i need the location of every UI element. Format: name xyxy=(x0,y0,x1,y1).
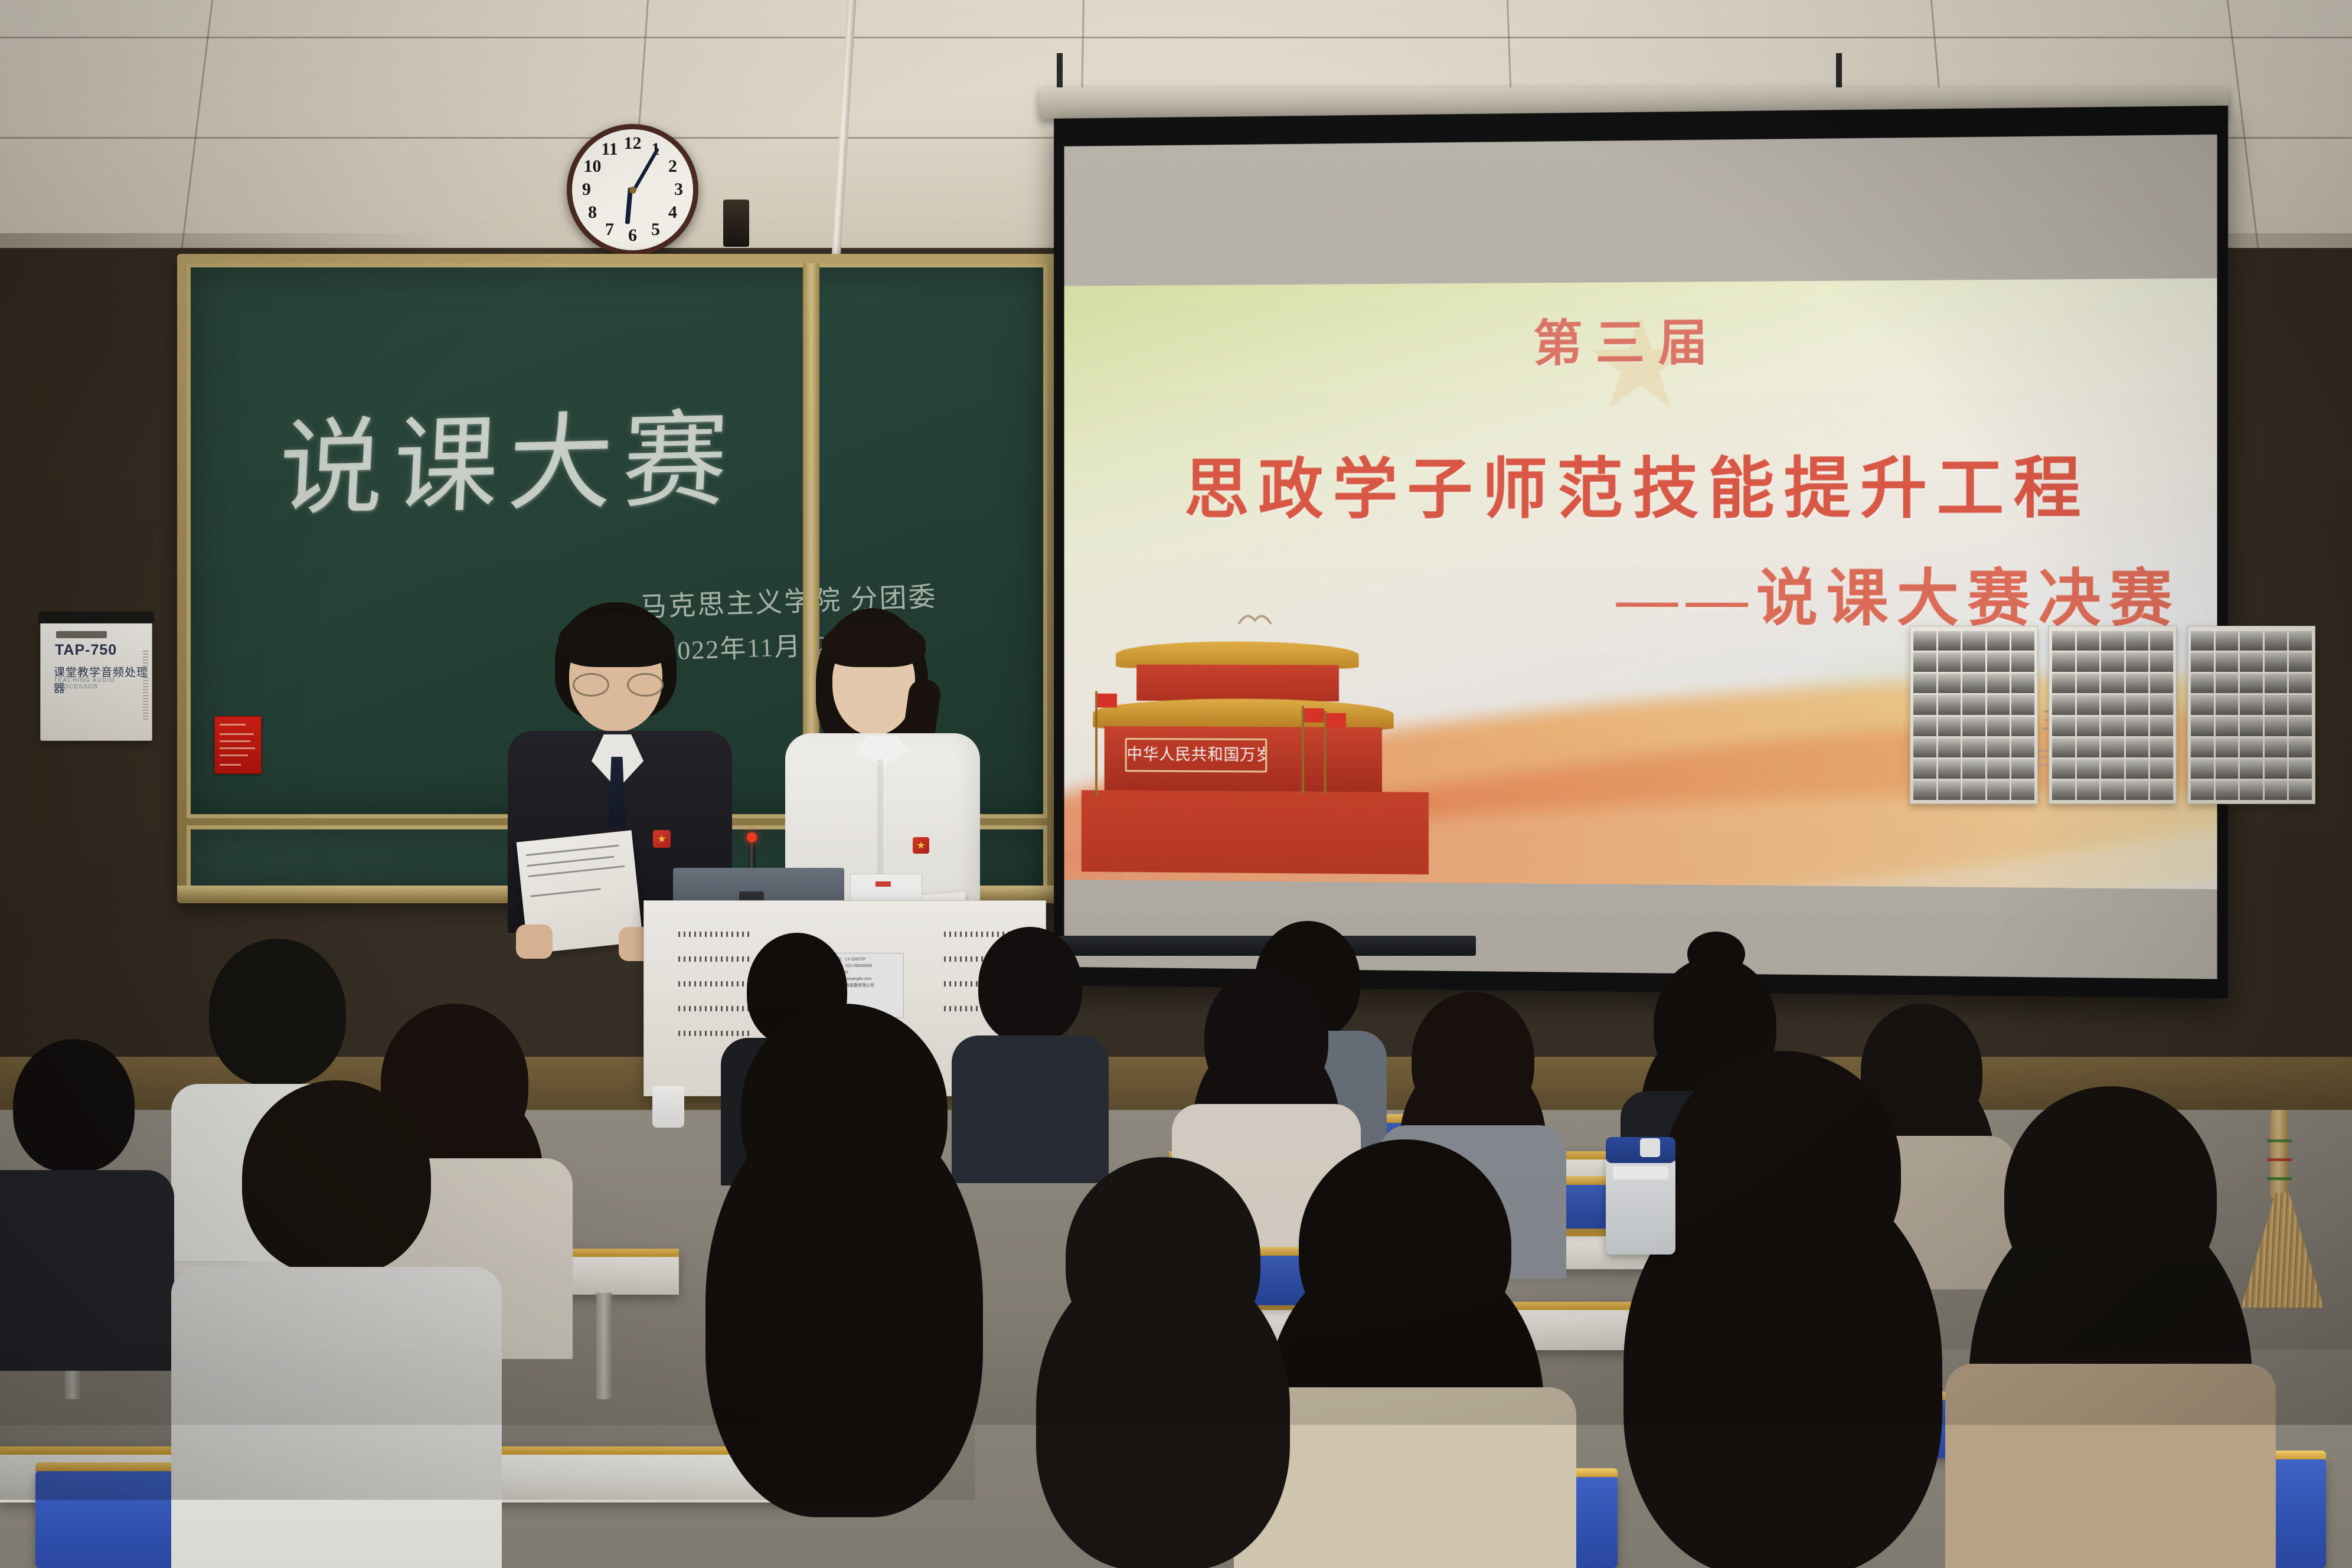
bird-icon xyxy=(1237,612,1273,628)
audience-member xyxy=(0,1039,148,1370)
party-emblem-badge-icon xyxy=(653,830,671,848)
clock-number: 9 xyxy=(577,179,597,200)
vent-grill xyxy=(143,651,148,721)
audience-member-foreground xyxy=(1629,1051,1936,1568)
audience-member-foreground xyxy=(1972,1086,2249,1568)
classroom-photo-scene: 12 1 2 3 4 5 6 7 8 9 10 11 TAP-750 课堂教学音… xyxy=(0,0,2352,1568)
clock-number: 4 xyxy=(663,202,683,223)
audience-member-foreground xyxy=(708,1004,980,1568)
paper-cup xyxy=(652,1086,684,1128)
slide-line-3: ——说课大赛决赛 xyxy=(1616,548,2181,638)
tiananmen-gate-illustration: 中华人民共和国万岁 xyxy=(1082,635,1452,871)
hair-fringe xyxy=(558,613,674,667)
student-photo-poster xyxy=(2187,626,2315,804)
screen-hanger xyxy=(1057,53,1063,90)
wall-clock: 12 1 2 3 4 5 6 7 8 9 10 11 xyxy=(567,124,698,256)
bottle-tab xyxy=(1640,1138,1660,1157)
hair-fringe xyxy=(822,621,926,667)
audio-processor-model: TAP-750 xyxy=(55,642,117,659)
blackboard-headline: 说课大赛 xyxy=(276,375,741,537)
clock-number: 6 xyxy=(623,226,643,246)
clock-number: 10 xyxy=(583,156,603,177)
audience-member xyxy=(968,927,1092,1175)
clock-number: 2 xyxy=(663,156,683,177)
clock-number: 8 xyxy=(583,202,603,223)
clock-number: 7 xyxy=(600,220,620,240)
projection-screen-surface: 第三届 思政学子师范技能提升工程 ——说课大赛决赛 中华人民共和国万岁 xyxy=(1064,135,2217,979)
desk-leg xyxy=(596,1293,612,1399)
audio-processor-name-en: TEACHING AUDIO PROCESSOR xyxy=(54,677,152,690)
hand xyxy=(516,925,553,959)
clock-center-pin xyxy=(629,187,636,194)
clock-number: 12 xyxy=(623,133,643,153)
brand-bar xyxy=(56,631,107,638)
audience-member-foreground xyxy=(1039,1157,1287,1568)
teaching-audio-processor-unit: TAP-750 课堂教学音频处理器 TEACHING AUDIO PROCESS… xyxy=(40,622,152,741)
audience-member-foreground xyxy=(1263,1139,1547,1568)
bottle-label xyxy=(1613,1167,1668,1180)
presentation-slide: 第三届 思政学子师范技能提升工程 ——说课大赛决赛 中华人民共和国万岁 xyxy=(1064,278,2217,889)
student-photo-poster xyxy=(1910,626,2038,804)
party-emblem-badge-icon xyxy=(913,837,929,854)
water-bottle xyxy=(1606,1157,1675,1255)
clock-number: 11 xyxy=(600,139,620,159)
student-photo-poster xyxy=(2049,626,2177,804)
hair-bun xyxy=(1687,932,1745,976)
clock-number: 5 xyxy=(646,220,666,240)
eyeglasses-icon xyxy=(573,673,660,693)
projection-screen: 第三届 思政学子师范技能提升工程 ——说课大赛决赛 中华人民共和国万岁 xyxy=(1054,106,2228,998)
red-safety-notice xyxy=(214,716,262,774)
slide-line-1: 第三届 xyxy=(1533,303,1721,375)
slide-line-2: 思政学子师范技能提升工程 xyxy=(1184,435,2090,532)
gate-banner-text: 中华人民共和国万岁 xyxy=(1125,738,1267,773)
broom xyxy=(2243,1110,2314,1305)
clock-number: 3 xyxy=(669,179,689,200)
audience-member-foreground xyxy=(213,1080,460,1568)
screen-hanger xyxy=(1836,53,1842,90)
